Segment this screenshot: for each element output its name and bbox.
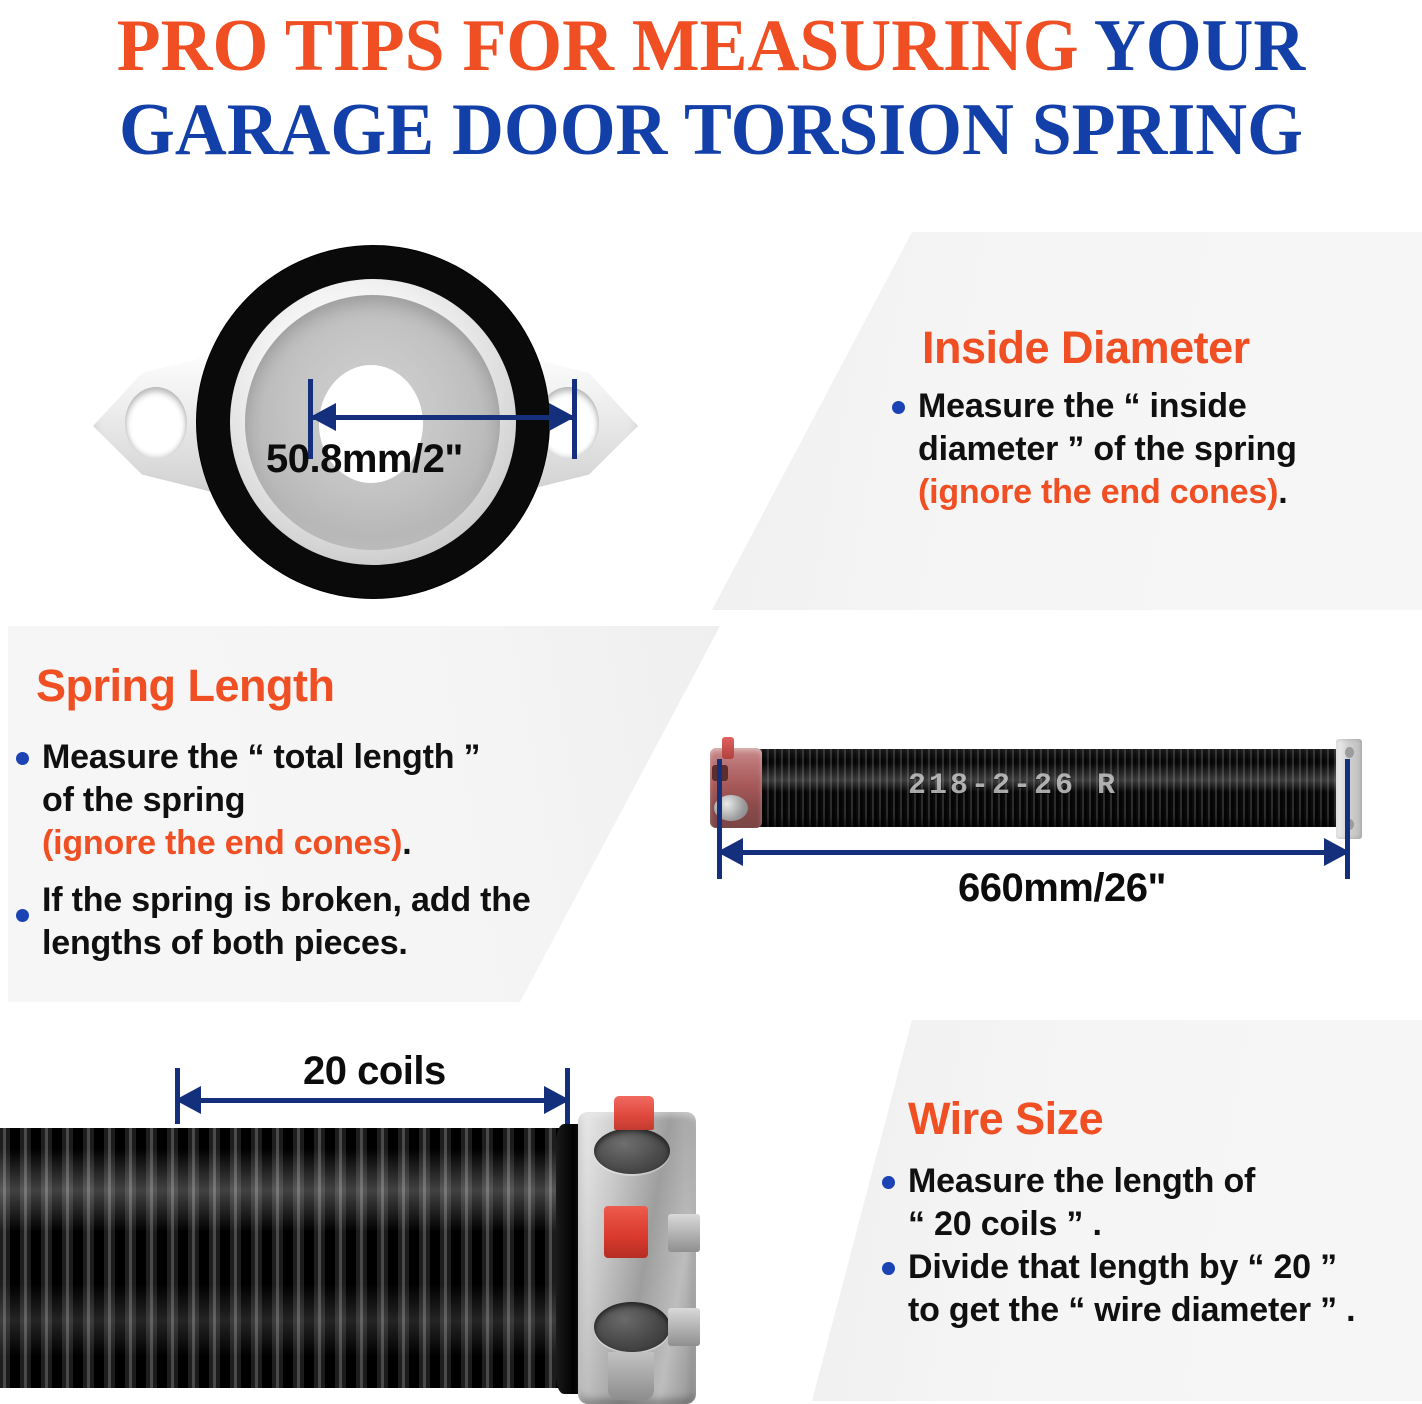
dimension-arrow-inside-diameter — [310, 403, 575, 431]
bullet-line: Measure the “ inside — [918, 387, 1247, 425]
coil-cone-foot — [608, 1352, 654, 1400]
bullets-wire-size: Measure the length of “ 20 coils ” . Div… — [880, 1160, 1420, 1332]
coil-cone-plug-middle — [604, 1206, 648, 1258]
list-item: Measure the “ total length ” — [14, 736, 674, 779]
list-item-cont: lengths of both pieces. — [14, 922, 674, 965]
bullet-line: of the spring — [42, 781, 245, 819]
title-orange-text: PRO TIPS FOR MEASURING — [117, 5, 1079, 87]
dimension-label-coils: 20 coils — [303, 1049, 446, 1094]
title-line-2: GARAGE DOOR TORSION SPRING — [21, 88, 1400, 172]
dimension-label-inside-diameter: 50.8mm/2" — [266, 437, 463, 482]
bullet-dot-icon — [16, 909, 29, 922]
bullet-dot-icon — [16, 752, 29, 765]
bullet-line: Divide that length by “ 20 ” — [908, 1248, 1337, 1286]
bullet-dot-icon — [882, 1176, 895, 1189]
bullets-spring-length: Measure the “ total length ” of the spri… — [14, 736, 674, 965]
arrow-bar — [717, 850, 1350, 855]
bullet-line: to get the “ wire diameter ” . — [908, 1291, 1355, 1329]
title-line-1: PRO TIPS FOR MEASURING YOUR — [21, 0, 1400, 88]
heading-inside-diameter: Inside Diameter — [922, 324, 1250, 372]
list-item-cont: “ 20 coils ” . — [880, 1203, 1420, 1246]
arrow-head-left-icon — [310, 403, 336, 431]
bullet-line: “ 20 coils ” . — [908, 1205, 1102, 1243]
bullet-line: If the spring is broken, add the — [42, 881, 531, 919]
heading-wire-size: Wire Size — [908, 1095, 1103, 1143]
list-item-cont: (ignore the end cones). — [14, 822, 674, 865]
bullet-line: diameter ” of the spring — [918, 430, 1297, 468]
bullet-dot-icon — [882, 1262, 895, 1275]
bullet-line: Measure the length of — [908, 1162, 1255, 1200]
arrow-head-right-icon — [1324, 838, 1350, 866]
coil-cone-setscrew-upper — [668, 1214, 700, 1252]
bullet-line-suffix: . — [402, 824, 411, 862]
title-blue-text: YOUR — [1079, 5, 1306, 87]
coil-cone-setscrew-lower — [668, 1308, 700, 1346]
page-title: PRO TIPS FOR MEASURING YOUR GARAGE DOOR … — [0, 0, 1422, 182]
coil-cone-bore-top — [594, 1128, 670, 1174]
bullet-dot-icon — [892, 401, 905, 414]
spring-left-cone-stub — [722, 737, 734, 759]
title-blue-text-2: GARAGE DOOR TORSION SPRING — [119, 89, 1303, 171]
bullet-line-highlight: (ignore the end cones) — [918, 473, 1278, 511]
dimension-label-spring-length: 660mm/26" — [958, 866, 1166, 911]
list-item-cont: (ignore the end cones). — [890, 471, 1390, 514]
arrow-head-right-icon — [549, 403, 575, 431]
list-item: Measure the length of — [880, 1160, 1420, 1203]
coil-cone-plug-top — [614, 1096, 654, 1130]
full-spring-photo: 218-2-26 R 660mm/26" — [700, 735, 1400, 900]
list-item: Divide that length by “ 20 ” — [880, 1246, 1420, 1289]
spring-right-plate-hole-top — [1345, 747, 1354, 758]
arrow-bar — [175, 1098, 570, 1103]
spring-stamp-text: 218-2-26 R — [908, 769, 1118, 803]
coil-closeup-photo — [0, 1090, 720, 1401]
list-item-cont: diameter ” of the spring — [890, 428, 1390, 471]
dimension-arrow-spring-length — [717, 838, 1350, 866]
list-item-cont: to get the “ wire diameter ” . — [880, 1289, 1420, 1332]
end-cone-photo: 50.8mm/2" — [85, 243, 645, 603]
bullet-line: Measure the “ total length ” — [42, 738, 480, 776]
bullet-line-highlight: (ignore the end cones) — [42, 824, 402, 862]
arrow-bar — [310, 415, 575, 420]
bullet-line-suffix: . — [1278, 473, 1287, 511]
bolt-hole-left — [125, 387, 187, 459]
coil-body — [0, 1128, 580, 1388]
list-item-cont: of the spring — [14, 779, 674, 822]
heading-spring-length: Spring Length — [36, 662, 334, 710]
list-item: Measure the “ inside — [890, 385, 1390, 428]
arrow-head-right-icon — [544, 1086, 570, 1114]
bullet-line: lengths of both pieces. — [42, 924, 408, 962]
coil-cone-bore-bottom — [594, 1302, 670, 1352]
list-item: If the spring is broken, add the — [14, 879, 674, 922]
bullets-inside-diameter: Measure the “ inside diameter ” of the s… — [890, 385, 1390, 514]
arrow-head-left-icon — [717, 838, 743, 866]
arrow-head-left-icon — [175, 1086, 201, 1114]
